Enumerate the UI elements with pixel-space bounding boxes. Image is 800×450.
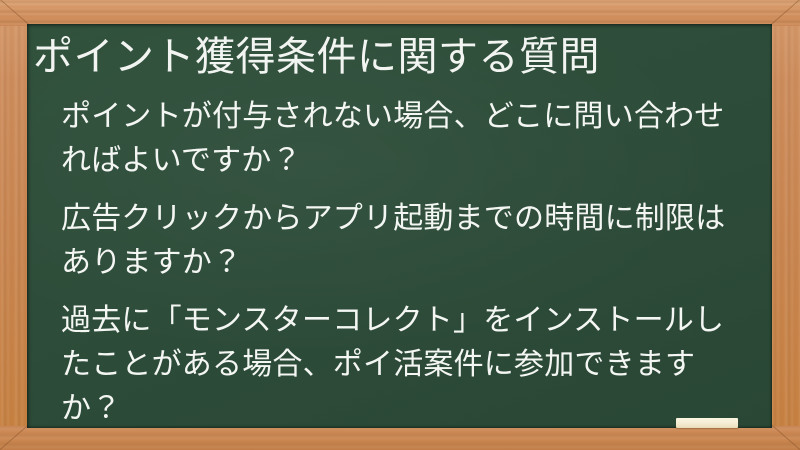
question-list: ポイントが付与されない場合、どこに問い合わせればよいですか？ 広告クリックからア… <box>30 95 750 428</box>
chalkboard-slide: ポイント獲得条件に関する質問 ポイントが付与されない場合、どこに問い合わせればよ… <box>0 0 800 450</box>
frame-bottom-rail <box>0 426 800 450</box>
question-item: 過去に「モンスターコレクト」をインストールしたことがある場合、ポイ活案件に参加で… <box>61 299 740 428</box>
chalkboard-surface: ポイント獲得条件に関する質問 ポイントが付与されない場合、どこに問い合わせればよ… <box>27 24 772 428</box>
frame-top-rail <box>0 0 800 26</box>
question-item: ポイントが付与されない場合、どこに問い合わせればよいですか？ <box>61 95 740 183</box>
slide-title: ポイント獲得条件に関する質問 <box>30 30 750 81</box>
question-item: 広告クリックからアプリ起動までの時間に制限はありますか？ <box>61 197 740 285</box>
chalk-stick-icon <box>676 418 738 428</box>
chalkboard-content: ポイント獲得条件に関する質問 ポイントが付与されない場合、どこに問い合わせればよ… <box>27 24 772 428</box>
